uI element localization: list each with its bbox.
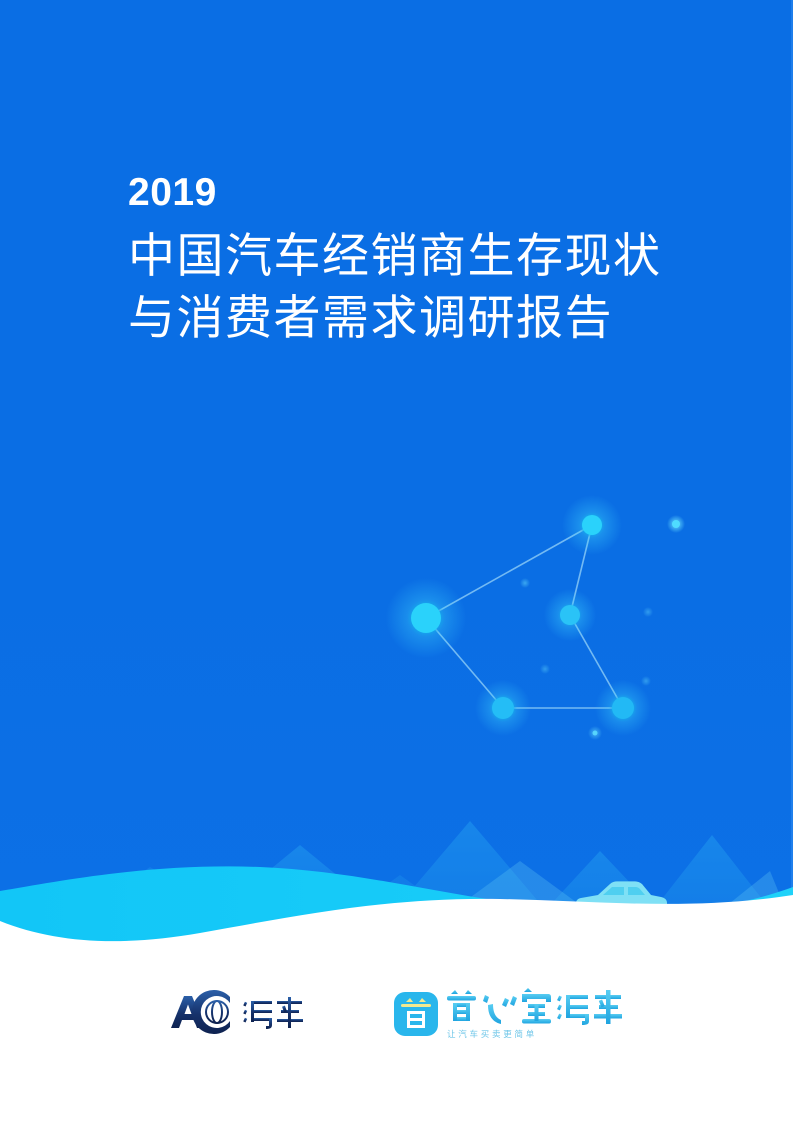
shengxinbao-logo-svg: 让汽车买卖更简单 [393, 987, 625, 1043]
ac-auto-logo-svg [169, 990, 309, 1040]
report-cover-page: 2019 中国汽车经销商生存现状 与消费者需求调研报告 [0, 0, 793, 1122]
ac-wordmark-qi [243, 1001, 272, 1029]
shengxinbao-badge-icon [394, 992, 438, 1036]
ac-wordmark-che [277, 997, 303, 1028]
title-year: 2019 [128, 172, 728, 214]
title-line-1: 中国汽车经销商生存现状 [128, 225, 728, 287]
svg-text:让汽车买卖更简单: 让汽车买卖更简单 [447, 1029, 537, 1039]
title-line-2: 与消费者需求调研报告 [128, 287, 728, 349]
ac-auto-logo[interactable] [169, 987, 309, 1043]
shengxinbao-wordmark [447, 988, 622, 1025]
cover-title-block: 2019 中国汽车经销商生存现状 与消费者需求调研报告 [128, 172, 728, 349]
shengxinbao-tagline: 让汽车买卖更简单 [447, 1029, 537, 1039]
shengxinbao-logo[interactable]: 让汽车买卖更简单 [393, 987, 625, 1043]
footer-logo-bar: 让汽车买卖更简单 [0, 975, 793, 1122]
cover-background [0, 0, 793, 975]
globe-icon [206, 1001, 228, 1023]
